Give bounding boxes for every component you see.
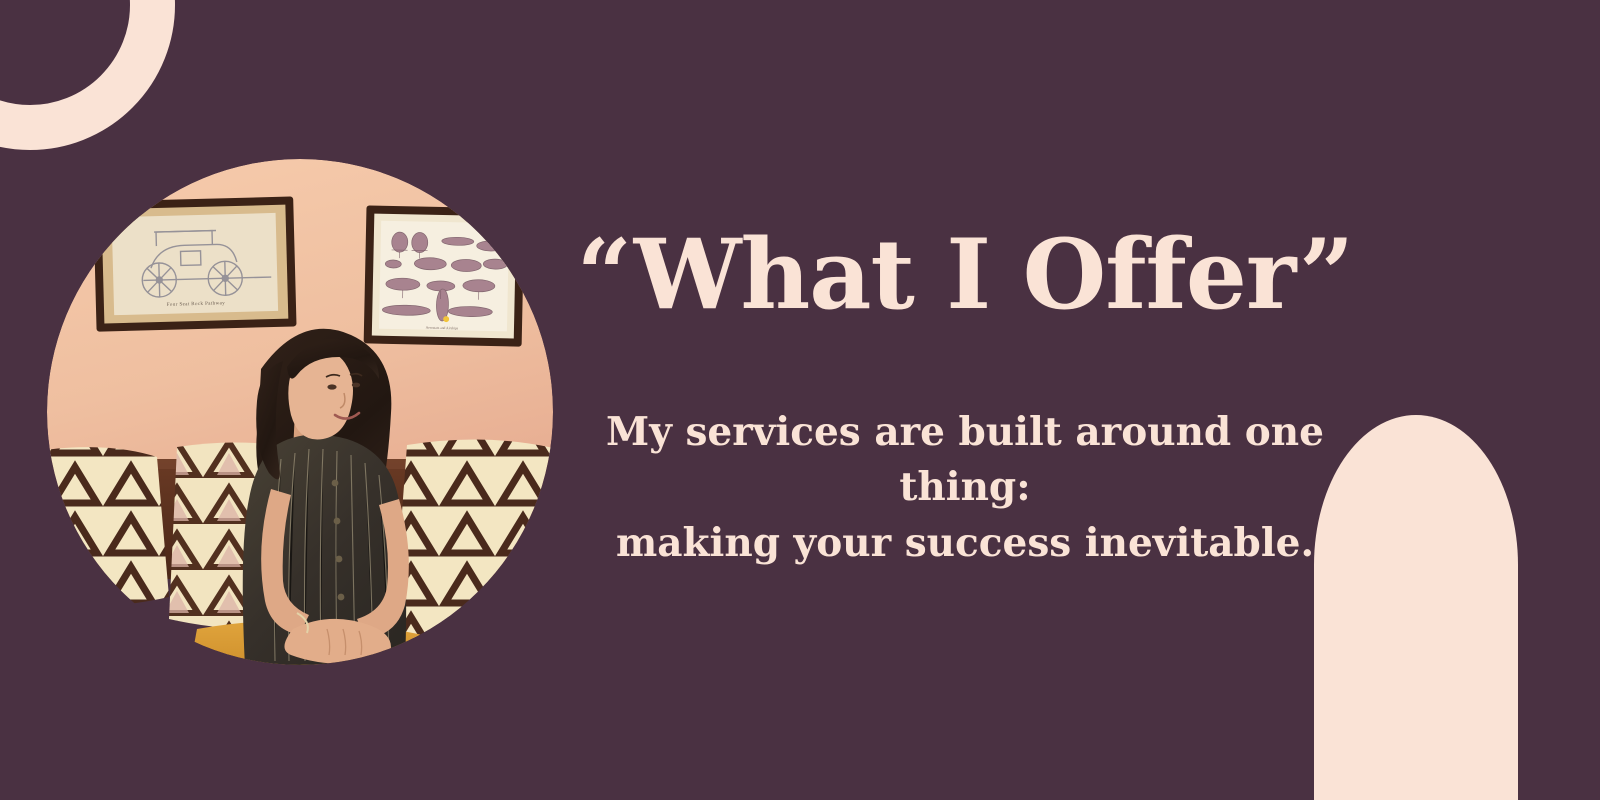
profile-photo-illustration: Four Seat Rock Pathway [47,159,553,665]
subtitle-line-2: making your success inevitable. [575,516,1355,571]
text-column: “What I Offer” My services are built aro… [575,0,1355,800]
banner-root: Four Seat Rock Pathway [0,0,1600,800]
profile-photo: Four Seat Rock Pathway [47,159,553,665]
svg-text:Aerostats and Airships: Aerostats and Airships [426,326,459,331]
subtitle: My services are built around one thing: … [575,405,1355,571]
page-title: “What I Offer” [575,225,1355,326]
subtitle-line-1: My services are built around one thing: [575,405,1355,516]
ring-shape-decor [0,0,175,150]
